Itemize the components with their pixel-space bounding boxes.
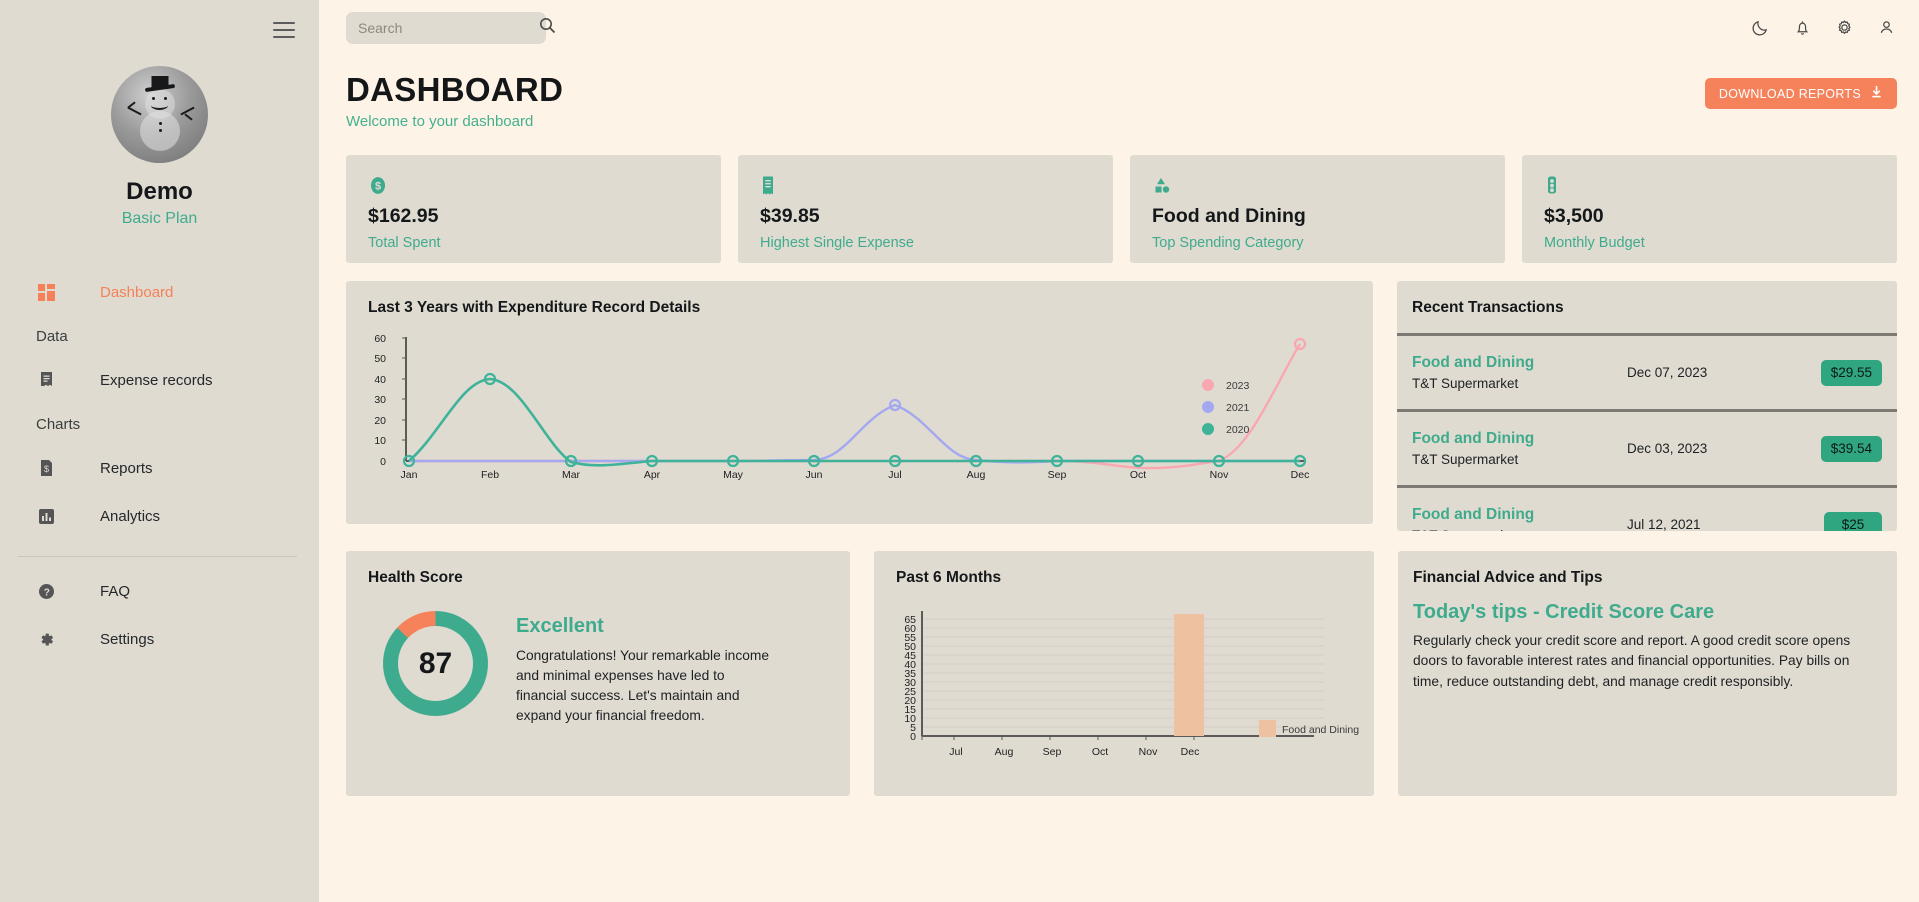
health-score-title: Health Score: [346, 551, 850, 587]
stat-label: Top Spending Category: [1152, 235, 1483, 251]
page-header: DASHBOARD Welcome to your dashboard DOWN…: [319, 55, 1919, 130]
sidebar-nav: Dashboard Data Expense records Charts $ …: [0, 268, 319, 663]
download-button-label: DOWNLOAD REPORTS: [1719, 87, 1861, 101]
bottom-row: Health Score 87 Excellent Congratulation…: [319, 531, 1919, 796]
svg-text:0: 0: [380, 456, 386, 468]
search-input[interactable]: [358, 20, 539, 36]
health-score-value: 87: [419, 647, 452, 681]
moon-icon[interactable]: [1751, 18, 1771, 38]
transaction-merchant: T&T Supermarket: [1412, 376, 1627, 391]
sidebar-item-label: Settings: [100, 631, 154, 648]
page-title: DASHBOARD: [346, 71, 1892, 109]
transaction-date: Jul 12, 2021: [1627, 517, 1824, 531]
svg-text:Jan: Jan: [401, 469, 418, 481]
svg-text:$: $: [44, 464, 49, 474]
legend-food-and-dining: Food and Dining: [1282, 724, 1359, 736]
svg-text:Oct: Oct: [1092, 746, 1108, 758]
table-row[interactable]: Food and Dining T&T Supermarket Dec 07, …: [1397, 333, 1897, 409]
user-icon[interactable]: [1877, 18, 1897, 38]
sidebar-section-charts: Charts: [0, 404, 319, 444]
receipt-icon: [760, 175, 1091, 197]
svg-text:?: ?: [43, 587, 49, 598]
legend-2021: 2021: [1226, 402, 1250, 414]
recent-transactions-card: Recent Transactions Food and Dining T&T …: [1397, 281, 1897, 531]
profile-block: Demo Basic Plan: [0, 0, 319, 228]
svg-text:Aug: Aug: [967, 469, 986, 481]
sidebar: Demo Basic Plan Dashboard Data Expense r…: [0, 0, 319, 902]
svg-text:0: 0: [910, 731, 916, 743]
advice-tip-body: Regularly check your credit score and re…: [1398, 624, 1897, 692]
shapes-icon: [1152, 175, 1483, 197]
svg-text:$: $: [375, 180, 381, 192]
expenditure-line-chart[interactable]: 60 50 40 30 20 10 0 Jan Feb Mar Apr: [346, 323, 1346, 518]
sidebar-divider: [18, 556, 297, 557]
sidebar-item-label: Dashboard: [100, 284, 173, 301]
stat-card-highest-expense[interactable]: $39.85 Highest Single Expense: [738, 155, 1113, 263]
sidebar-item-label: Analytics: [100, 508, 160, 525]
svg-text:Sep: Sep: [1043, 746, 1062, 758]
question-circle-icon: ?: [36, 581, 56, 601]
stat-label: Monthly Budget: [1544, 235, 1875, 251]
legend-2023: 2023: [1226, 380, 1250, 392]
svg-text:Feb: Feb: [481, 469, 499, 481]
bell-icon[interactable]: [1793, 18, 1813, 38]
sidebar-item-expense-records[interactable]: Expense records: [0, 356, 319, 404]
svg-text:Nov: Nov: [1139, 746, 1158, 758]
sidebar-item-reports[interactable]: $ Reports: [0, 444, 319, 492]
svg-text:50: 50: [374, 353, 386, 365]
past-6-months-title: Past 6 Months: [874, 551, 1374, 587]
svg-text:60: 60: [374, 333, 386, 345]
topbar: [319, 0, 1919, 55]
financial-advice-title: Financial Advice and Tips: [1398, 551, 1897, 587]
stat-value: Food and Dining: [1152, 205, 1483, 228]
stat-value: $3,500: [1544, 205, 1875, 228]
stat-value: $39.85: [760, 205, 1091, 228]
transaction-amount-badge: $25: [1824, 512, 1882, 532]
stat-card-monthly-budget[interactable]: $3,500 Monthly Budget: [1522, 155, 1897, 263]
sidebar-item-label: Reports: [100, 460, 153, 477]
transaction-merchant: T&T Supermarket: [1412, 452, 1627, 467]
download-reports-button[interactable]: DOWNLOAD REPORTS: [1705, 78, 1897, 109]
bar-chart-legend: Food and Dining: [1259, 720, 1359, 737]
avatar[interactable]: [111, 66, 208, 163]
transaction-date: Dec 03, 2023: [1627, 441, 1821, 456]
search-icon[interactable]: [539, 17, 556, 39]
svg-text:Dec: Dec: [1181, 746, 1200, 758]
sidebar-item-dashboard[interactable]: Dashboard: [0, 268, 319, 316]
stat-card-top-category[interactable]: Food and Dining Top Spending Category: [1130, 155, 1505, 263]
sidebar-item-settings[interactable]: Settings: [0, 615, 319, 663]
gear-icon[interactable]: [1835, 18, 1855, 38]
grid-squares-icon: [36, 282, 56, 302]
svg-text:40: 40: [374, 374, 386, 386]
svg-text:Jul: Jul: [888, 469, 901, 481]
table-row[interactable]: Food and Dining T&T Supermarket Dec 03, …: [1397, 409, 1897, 485]
download-icon: [1870, 85, 1883, 102]
mid-row: Last 3 Years with Expenditure Record Det…: [319, 263, 1919, 531]
dollar-circle-icon: $: [368, 175, 699, 197]
sidebar-item-label: FAQ: [100, 583, 130, 600]
sidebar-item-analytics[interactable]: Analytics: [0, 492, 319, 540]
transaction-category: Food and Dining: [1412, 354, 1627, 372]
transaction-category: Food and Dining: [1412, 430, 1627, 448]
transaction-amount-badge: $39.54: [1821, 436, 1882, 462]
profile-plan: Basic Plan: [122, 210, 198, 228]
svg-text:Jul: Jul: [949, 746, 962, 758]
stat-label: Total Spent: [368, 235, 699, 251]
sidebar-section-data: Data: [0, 316, 319, 356]
svg-text:May: May: [723, 469, 744, 481]
hamburger-icon[interactable]: [273, 22, 295, 38]
svg-text:Dec: Dec: [1291, 469, 1310, 481]
stat-card-total-spent[interactable]: $ $162.95 Total Spent: [346, 155, 721, 263]
gear-icon: [36, 629, 56, 649]
line-chart-title: Last 3 Years with Expenditure Record Det…: [346, 281, 1373, 317]
sidebar-item-label: Expense records: [100, 372, 213, 389]
table-row[interactable]: Food and Dining T&T Supermarket Jul 12, …: [1397, 485, 1897, 531]
svg-text:20: 20: [374, 415, 386, 427]
health-score-description: Congratulations! Your remarkable income …: [516, 646, 774, 726]
svg-text:Mar: Mar: [562, 469, 581, 481]
traffic-light-icon: [1544, 175, 1875, 197]
profile-name: Demo: [126, 178, 193, 206]
line-chart-card: Last 3 Years with Expenditure Record Det…: [346, 281, 1373, 524]
svg-text:Nov: Nov: [1210, 469, 1229, 481]
transaction-merchant: T&T Supermarket: [1412, 528, 1627, 531]
bar-chart-icon: [36, 506, 56, 526]
bar-dec[interactable]: [1174, 614, 1204, 736]
stat-cards: $ $162.95 Total Spent $39.85 Highest Sin…: [319, 130, 1919, 263]
svg-text:30: 30: [374, 394, 386, 406]
svg-text:Apr: Apr: [644, 469, 661, 481]
main-content: DASHBOARD Welcome to your dashboard DOWN…: [319, 0, 1919, 902]
health-score-card: Health Score 87 Excellent Congratulation…: [346, 551, 850, 796]
receipt-icon: [36, 370, 56, 390]
svg-text:Sep: Sep: [1048, 469, 1067, 481]
svg-text:10: 10: [374, 435, 386, 447]
page-subtitle: Welcome to your dashboard: [346, 113, 1892, 130]
document-dollar-icon: $: [36, 458, 56, 478]
search-box[interactable]: [346, 12, 546, 44]
dashboard-app: Demo Basic Plan Dashboard Data Expense r…: [0, 0, 1919, 902]
stat-label: Highest Single Expense: [760, 235, 1091, 251]
svg-text:Jun: Jun: [806, 469, 823, 481]
svg-text:Oct: Oct: [1130, 469, 1146, 481]
past-6-months-card: Past 6 Months 65 60: [874, 551, 1374, 796]
health-score-rating: Excellent: [516, 615, 774, 638]
financial-advice-card: Financial Advice and Tips Today's tips -…: [1398, 551, 1897, 796]
past-6-months-bar-chart[interactable]: 65 60 55 50 45 40 35 30 25 20 15 10 5 0: [874, 597, 1374, 787]
sidebar-item-faq[interactable]: ? FAQ: [0, 567, 319, 615]
topbar-icons: [1751, 18, 1897, 38]
legend-2020: 2020: [1226, 424, 1250, 436]
stat-value: $162.95: [368, 205, 699, 228]
transaction-amount-badge: $29.55: [1821, 360, 1882, 386]
transaction-category: Food and Dining: [1412, 506, 1627, 524]
svg-text:Aug: Aug: [995, 746, 1014, 758]
health-score-donut[interactable]: 87: [383, 611, 488, 716]
advice-tip-title: Today's tips - Credit Score Care: [1398, 587, 1897, 624]
transactions-title: Recent Transactions: [1397, 281, 1897, 333]
line-chart-legend: 2023 2021 2020: [1202, 379, 1250, 436]
transaction-date: Dec 07, 2023: [1627, 365, 1821, 380]
